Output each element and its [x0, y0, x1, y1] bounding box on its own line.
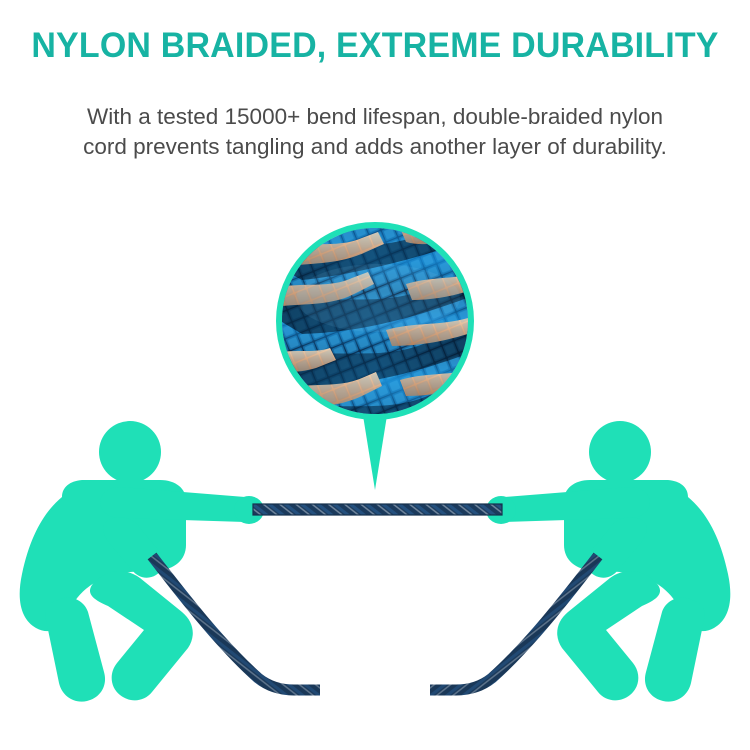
tug-of-war-figure-right [486, 421, 730, 702]
poster-canvas: NYLON BRAIDED, EXTREME DURABILITY With a… [0, 0, 750, 750]
tug-of-war-illustration [0, 0, 750, 750]
figure-left-back-leg [45, 598, 105, 702]
illustration-stage [0, 0, 750, 750]
figure-right-back-leg [645, 598, 705, 702]
figure-left-head [99, 421, 161, 483]
upper-rope [253, 504, 502, 515]
figure-right-head [589, 421, 651, 483]
tug-of-war-figure-left [20, 421, 264, 702]
